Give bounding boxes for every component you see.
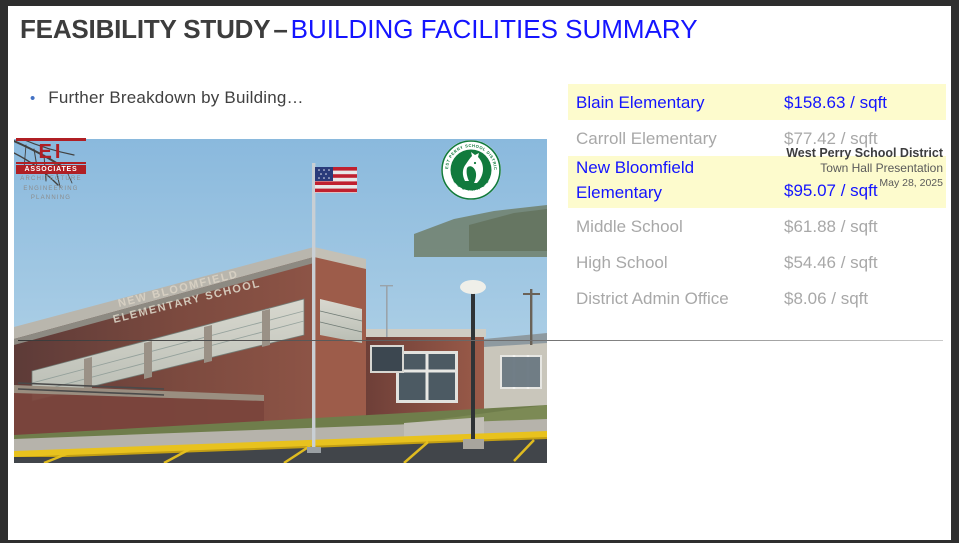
footer-presentation-info: West Perry School District Town Hall Pre…	[786, 146, 943, 190]
table-row[interactable]: Blain Elementary $158.63 / sqft	[568, 84, 946, 120]
page-title: FEASIBILITY STUDY–BUILDING FACILITIES SU…	[20, 14, 698, 45]
table-row[interactable]: High School $54.46 / sqft	[568, 244, 946, 280]
bullet-list-item: • Further Breakdown by Building…	[30, 88, 304, 108]
footer-presentation-name: Town Hall Presentation	[786, 161, 943, 176]
building-name: Blain Elementary	[576, 90, 784, 120]
west-perry-district-seal: WEST PERRY SCHOOL DISTRICT M U S T A N G…	[440, 139, 502, 201]
ei-logo-letters: EI	[16, 138, 86, 164]
building-name: Middle School	[576, 214, 784, 244]
building-name: High School	[576, 250, 784, 280]
horse-head-icon: WEST PERRY SCHOOL DISTRICT M U S T A N G…	[440, 139, 502, 201]
page-title-dash: –	[270, 14, 290, 44]
ei-logo-discipline-planning: PLANNING	[16, 195, 86, 203]
footer-district-name: West Perry School District	[786, 146, 943, 161]
building-cost: $8.06 / sqft	[784, 286, 868, 316]
building-cost: $158.63 / sqft	[784, 90, 887, 120]
cost-per-sqft-table: Blain Elementary $158.63 / sqft Carroll …	[568, 84, 946, 316]
ei-logo-discipline-engineering: ENGINEERING	[16, 186, 86, 194]
bullet-marker-icon: •	[30, 91, 35, 106]
bullet-text: Further Breakdown by Building…	[48, 88, 303, 108]
footer-date: May 28, 2025	[786, 176, 943, 190]
ei-logo-discipline-architecture: ARCHITECTURE	[16, 176, 86, 184]
slide-frame: FEASIBILITY STUDY–BUILDING FACILITIES SU…	[0, 0, 959, 543]
table-row[interactable]: Middle School $61.88 / sqft	[568, 208, 946, 244]
page-title-main: FEASIBILITY STUDY	[20, 14, 270, 44]
ei-logo-associates: ASSOCIATES	[16, 165, 86, 174]
table-row[interactable]: District Admin Office $8.06 / sqft	[568, 280, 946, 316]
page-title-accent: BUILDING FACILITIES SUMMARY	[291, 14, 698, 44]
building-cost: $61.88 / sqft	[784, 214, 878, 244]
ei-associates-logo: EI ASSOCIATES ARCHITECTURE ENGINEERING P…	[16, 138, 86, 203]
building-name: New Bloomfield Elementary	[576, 155, 784, 208]
building-name: District Admin Office	[576, 286, 784, 316]
presentation-slide: FEASIBILITY STUDY–BUILDING FACILITIES SU…	[8, 6, 951, 540]
building-cost: $54.46 / sqft	[784, 250, 878, 280]
building-name: Carroll Elementary	[576, 126, 784, 156]
footer-divider	[18, 340, 943, 341]
